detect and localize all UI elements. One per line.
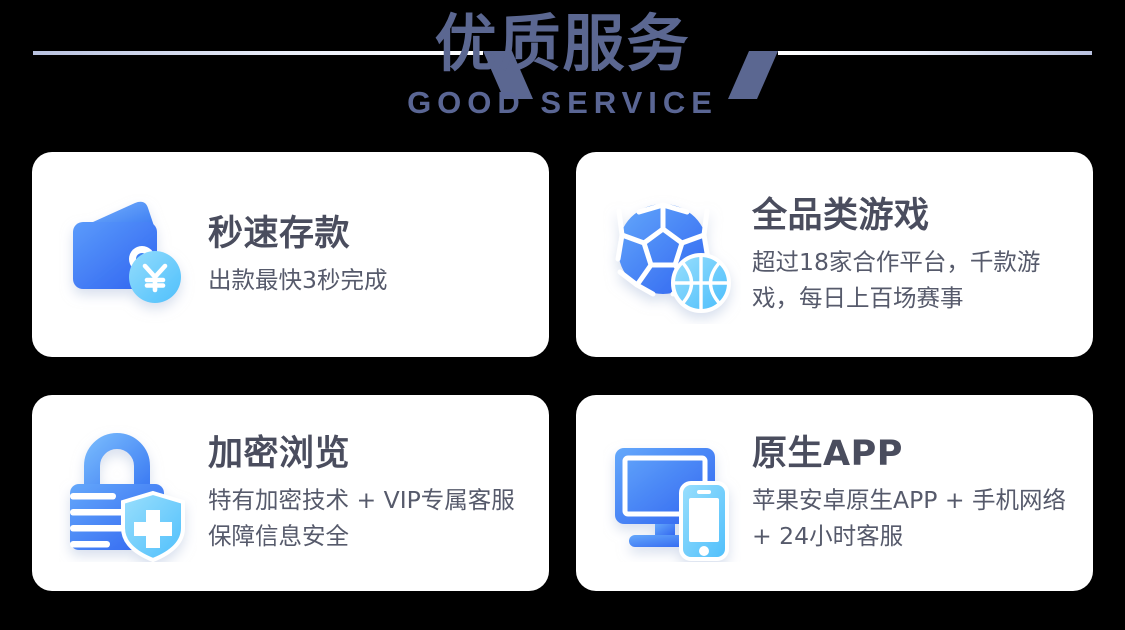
card-description: 特有加密技术 + VIP专属客服保障信息安全 bbox=[208, 482, 531, 554]
good-service-page: 优质服务 GOOD SERVICE bbox=[0, 0, 1125, 630]
lock-shield-icon bbox=[58, 423, 198, 563]
card-text-block: 全品类游戏 超过18家合作平台，千款游戏，每日上百场赛事 bbox=[742, 194, 1075, 316]
wallet-yen-icon bbox=[58, 185, 198, 325]
card-text-block: 原生APP 苹果安卓原生APP + 手机网络 + 24小时客服 bbox=[742, 432, 1075, 554]
service-card-native-app[interactable]: 原生APP 苹果安卓原生APP + 手机网络 + 24小时客服 bbox=[576, 395, 1093, 591]
page-header: 优质服务 GOOD SERVICE bbox=[0, 0, 1125, 146]
service-card-encrypted-browsing[interactable]: 加密浏览 特有加密技术 + VIP专属客服保障信息安全 bbox=[32, 395, 549, 591]
card-title: 原生APP bbox=[752, 432, 1075, 476]
card-description: 超过18家合作平台，千款游戏，每日上百场赛事 bbox=[752, 244, 1075, 316]
card-text-block: 加密浏览 特有加密技术 + VIP专属客服保障信息安全 bbox=[198, 432, 531, 554]
service-card-grid: 秒速存款 出款最快3秒完成 bbox=[32, 152, 1093, 591]
card-description: 苹果安卓原生APP + 手机网络 + 24小时客服 bbox=[752, 482, 1075, 554]
service-card-all-category-games[interactable]: 全品类游戏 超过18家合作平台，千款游戏，每日上百场赛事 bbox=[576, 152, 1093, 357]
card-title: 秒速存款 bbox=[208, 212, 531, 256]
header-title-block: 优质服务 GOOD SERVICE bbox=[0, 8, 1125, 120]
card-text-block: 秒速存款 出款最快3秒完成 bbox=[198, 212, 531, 298]
soccer-basketball-icon bbox=[602, 185, 742, 325]
monitor-phone-icon bbox=[602, 423, 742, 563]
service-card-instant-deposit[interactable]: 秒速存款 出款最快3秒完成 bbox=[32, 152, 549, 357]
page-subtitle: GOOD SERVICE bbox=[0, 86, 1125, 120]
card-title: 加密浏览 bbox=[208, 432, 531, 476]
page-title: 优质服务 bbox=[0, 8, 1125, 80]
card-description: 出款最快3秒完成 bbox=[208, 262, 531, 298]
card-title: 全品类游戏 bbox=[752, 194, 1075, 238]
